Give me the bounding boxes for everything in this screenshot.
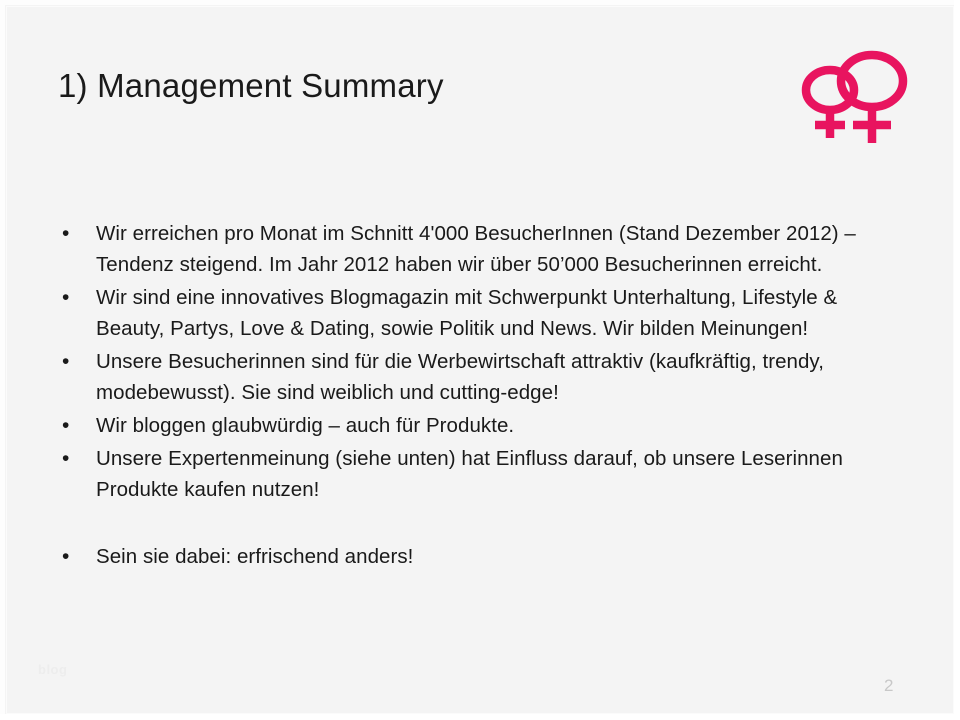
list-item-text: Wir erreichen pro Monat im Schnitt 4'000… xyxy=(96,218,903,280)
bullet-point-icon: • xyxy=(58,443,96,474)
page-number: 2 xyxy=(884,676,893,696)
list-item-text: Wir sind eine innovatives Blogmagazin mi… xyxy=(96,282,903,344)
list-item: • Unsere Expertenmeinung (siehe unten) h… xyxy=(58,443,903,505)
list-item-text: Sein sie dabei: erfrischend anders! xyxy=(96,541,903,572)
list-item-text: Unsere Besucherinnen sind für die Werbew… xyxy=(96,346,903,408)
bullet-list: • Wir erreichen pro Monat im Schnitt 4'0… xyxy=(58,218,903,574)
page-title: 1) Management Summary xyxy=(58,66,444,106)
list-item: • Wir bloggen glaubwürdig – auch für Pro… xyxy=(58,410,903,441)
double-venus-symbol-logo xyxy=(795,48,913,148)
footer-watermark: blog xyxy=(38,662,67,678)
list-item-text: Wir bloggen glaubwürdig – auch für Produ… xyxy=(96,410,903,441)
slide-edge-top xyxy=(0,0,960,5)
list-item: • Wir erreichen pro Monat im Schnitt 4'0… xyxy=(58,218,903,280)
presentation-slide: 1) Management Summary • Wir erreichen pr… xyxy=(0,0,960,720)
bullet-point-icon: • xyxy=(58,218,96,249)
list-item-text: Unsere Expertenmeinung (siehe unten) hat… xyxy=(96,443,903,505)
bullet-point-icon: • xyxy=(58,346,96,377)
bullet-point-icon: • xyxy=(58,541,96,572)
list-item: • Wir sind eine innovatives Blogmagazin … xyxy=(58,282,903,344)
list-item: • Sein sie dabei: erfrischend anders! xyxy=(58,541,903,572)
slide-edge-left xyxy=(0,0,5,720)
slide-edge-bottom xyxy=(0,714,960,720)
slide-edge-right xyxy=(954,0,960,720)
list-item: • Unsere Besucherinnen sind für die Werb… xyxy=(58,346,903,408)
bullet-point-icon: • xyxy=(58,410,96,441)
bullet-point-icon: • xyxy=(58,282,96,313)
